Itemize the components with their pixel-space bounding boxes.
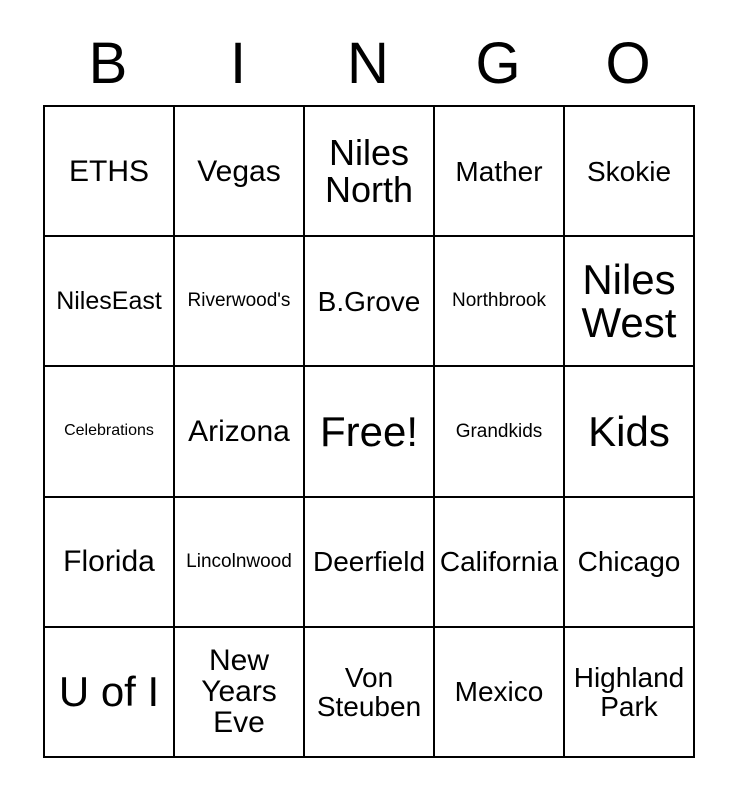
- bingo-cell[interactable]: NilesEast: [45, 237, 175, 367]
- bingo-cell[interactable]: Lincolnwood: [175, 498, 305, 628]
- bingo-cell-label: U of I: [47, 670, 171, 714]
- bingo-cell-label: Free!: [307, 410, 431, 454]
- bingo-cell[interactable]: New Years Eve: [175, 628, 305, 758]
- bingo-cell-label: Grandkids: [437, 422, 561, 442]
- bingo-cell[interactable]: Florida: [45, 498, 175, 628]
- header-letter-i: I: [173, 28, 303, 100]
- bingo-cell[interactable]: Vegas: [175, 107, 305, 237]
- bingo-cell-label: Highland Park: [567, 663, 691, 721]
- header-letter-o: O: [563, 28, 693, 100]
- bingo-cell[interactable]: Northbrook: [435, 237, 565, 367]
- bingo-cell-label: Lincolnwood: [177, 552, 301, 572]
- bingo-cell-label: Mather: [437, 157, 561, 186]
- bingo-cell-label: California: [437, 547, 561, 576]
- bingo-cell[interactable]: Kids: [565, 367, 695, 497]
- bingo-grid: ETHS Vegas Niles North Mather Skokie Nil…: [43, 105, 695, 758]
- bingo-cell-label: Kids: [567, 410, 691, 454]
- bingo-cell[interactable]: Grandkids: [435, 367, 565, 497]
- bingo-cell-label: ETHS: [47, 156, 171, 187]
- bingo-cell-label: Von Steuben: [307, 663, 431, 721]
- bingo-cell-label: Florida: [47, 546, 171, 577]
- bingo-cell-label: Mexico: [437, 677, 561, 706]
- bingo-cell[interactable]: Celebrations: [45, 367, 175, 497]
- bingo-cell-label: NilesEast: [47, 288, 171, 314]
- bingo-row: ETHS Vegas Niles North Mather Skokie: [45, 107, 695, 237]
- bingo-cell[interactable]: Deerfield: [305, 498, 435, 628]
- bingo-cell[interactable]: Von Steuben: [305, 628, 435, 758]
- bingo-row: Celebrations Arizona Free! Grandkids Kid…: [45, 367, 695, 497]
- bingo-cell-label: B.Grove: [307, 287, 431, 316]
- bingo-cell[interactable]: Riverwood's: [175, 237, 305, 367]
- header-letter-n: N: [303, 28, 433, 100]
- bingo-cell[interactable]: Mather: [435, 107, 565, 237]
- bingo-cell[interactable]: U of I: [45, 628, 175, 758]
- bingo-card: B I N G O ETHS Vegas Niles North Mather …: [0, 0, 736, 800]
- bingo-cell-free-space[interactable]: Free!: [305, 367, 435, 497]
- bingo-cell-label: Arizona: [177, 416, 301, 447]
- bingo-cell-label: New Years Eve: [177, 645, 301, 739]
- bingo-cell[interactable]: Niles West: [565, 237, 695, 367]
- bingo-cell-label: Riverwood's: [177, 291, 301, 311]
- bingo-cell-label: Niles West: [567, 258, 691, 345]
- bingo-cell-label: Niles North: [307, 134, 431, 209]
- bingo-cell[interactable]: Highland Park: [565, 628, 695, 758]
- bingo-cell[interactable]: Chicago: [565, 498, 695, 628]
- bingo-cell-label: Celebrations: [47, 423, 171, 440]
- bingo-cell-label: Vegas: [177, 156, 301, 187]
- bingo-cell[interactable]: B.Grove: [305, 237, 435, 367]
- header-letter-g: G: [433, 28, 563, 100]
- header-letter-b: B: [43, 28, 173, 100]
- bingo-row: Florida Lincolnwood Deerfield California…: [45, 498, 695, 628]
- bingo-row: NilesEast Riverwood's B.Grove Northbrook…: [45, 237, 695, 367]
- bingo-cell[interactable]: Skokie: [565, 107, 695, 237]
- bingo-cell[interactable]: Mexico: [435, 628, 565, 758]
- bingo-cell[interactable]: Arizona: [175, 367, 305, 497]
- bingo-cell-label: Deerfield: [307, 547, 431, 576]
- bingo-cell[interactable]: ETHS: [45, 107, 175, 237]
- bingo-cell[interactable]: Niles North: [305, 107, 435, 237]
- bingo-cell[interactable]: California: [435, 498, 565, 628]
- bingo-header: B I N G O: [43, 28, 693, 100]
- bingo-cell-label: Northbrook: [437, 291, 561, 311]
- bingo-cell-label: Skokie: [567, 157, 691, 186]
- bingo-cell-label: Chicago: [567, 547, 691, 576]
- bingo-row: U of I New Years Eve Von Steuben Mexico …: [45, 628, 695, 758]
